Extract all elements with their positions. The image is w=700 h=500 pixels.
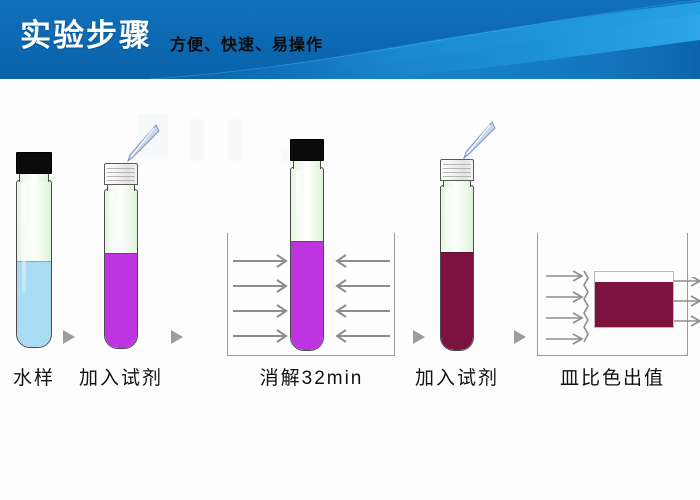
tube-neck	[19, 173, 49, 182]
step-label-colorimetry: 皿比色出值	[531, 363, 694, 390]
flow-arrow-1	[62, 329, 76, 350]
tube-cap-black-icon	[290, 139, 324, 161]
tube-cap-black-icon	[16, 152, 52, 174]
light-out-arrows	[672, 277, 700, 329]
triangle-right-icon	[62, 329, 76, 345]
heat-arrows-left	[233, 253, 295, 347]
cuvette	[594, 271, 674, 328]
process-diagram: 水样	[0, 79, 700, 500]
liquid-reagent-dark-red	[441, 252, 473, 350]
triangle-right-icon	[412, 329, 426, 345]
pipette-glyph	[126, 124, 160, 164]
tube-glass-highlight	[22, 183, 26, 293]
step-label-add-reagent-2: 加入试剂	[411, 363, 503, 390]
triangle-right-icon	[513, 329, 527, 345]
triangle-right-icon	[170, 329, 184, 345]
flow-arrow-4	[513, 329, 527, 350]
step-label-digestion: 消解32min	[230, 363, 393, 390]
step-label-water-sample: 水样	[0, 363, 68, 390]
background-artifact	[190, 119, 204, 161]
background-artifact	[228, 119, 242, 161]
page-subtitle: 方便、快速、易操作	[170, 36, 323, 56]
tube-glass-highlight	[296, 171, 300, 237]
tube-neck	[293, 160, 321, 169]
poster-root: 实验步骤 方便、快速、易操作 水样	[0, 0, 700, 500]
pipette-icon	[126, 124, 160, 169]
liquid-reagent-purple	[105, 253, 137, 348]
flow-arrow-3	[412, 329, 426, 350]
flow-arrow-2	[170, 329, 184, 350]
step-label-add-reagent-1: 加入试剂	[75, 363, 167, 390]
liquid-digesting-purple	[291, 241, 323, 350]
cuvette-liquid	[595, 282, 673, 327]
light-in-arrows	[546, 270, 592, 346]
pipette-glyph	[462, 121, 496, 161]
header-banner: 实验步骤 方便、快速、易操作	[0, 0, 700, 79]
page-title: 实验步骤	[20, 17, 152, 55]
pipette-icon	[462, 121, 496, 166]
heat-arrows-right	[328, 253, 390, 347]
tube-glass-highlight	[110, 192, 114, 250]
tube-glass-highlight	[446, 189, 450, 247]
